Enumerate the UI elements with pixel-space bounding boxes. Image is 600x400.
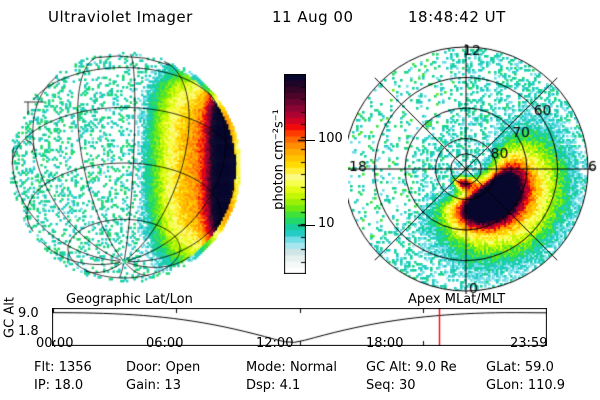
status-glat-value: 59.0 <box>525 360 554 375</box>
orbit-y-tick-high: 9.0 <box>18 306 39 321</box>
status-gain-label: Gain: <box>126 378 160 393</box>
status-door: Door: Open <box>126 360 200 375</box>
status-door-value: Open <box>166 360 201 375</box>
geographic-globe-image[interactable] <box>6 44 246 292</box>
status-dsp-value: 4.1 <box>280 378 301 393</box>
status-gcalt: GC Alt: 9.0 Re <box>366 360 457 375</box>
right-panel-caption: Apex MLat/MLT <box>408 292 505 307</box>
page-title: Ultraviolet Imager <box>48 8 193 26</box>
status-mode-label: Mode: <box>246 360 286 375</box>
orbit-track-plot[interactable] <box>52 308 547 346</box>
status-ip-label: IP: <box>34 378 50 393</box>
time-tick-3: 18:00 <box>366 336 403 351</box>
status-flight-label: Flt: <box>34 360 55 375</box>
apex-polar-panel[interactable] <box>348 44 598 294</box>
time-tick-0: 00:00 <box>36 336 73 351</box>
colorbar-major-tick-100 <box>306 140 315 141</box>
status-seq-label: Seq: <box>366 378 395 393</box>
observation-time: 18:48:42 UT <box>408 8 506 26</box>
status-seq: Seq: 30 <box>366 378 416 393</box>
time-tick-4: 23:59 <box>510 336 547 351</box>
left-panel-caption: Geographic Lat/Lon <box>66 292 193 307</box>
colorbar-gradient <box>284 74 306 274</box>
apex-polar-image[interactable] <box>348 44 598 294</box>
colorbar-tick-100: 100 <box>318 131 343 146</box>
status-dsp-label: Dsp: <box>246 378 275 393</box>
status-ip-value: 18.0 <box>54 378 83 393</box>
telemetry-status-bar: Flt: 1356 Door: Open Mode: Normal GC Alt… <box>0 360 600 400</box>
status-gain: Gain: 13 <box>126 378 181 393</box>
status-gcalt-label: GC Alt: <box>366 360 411 375</box>
status-glon: GLon: 110.9 <box>486 378 565 393</box>
status-mode-value: Normal <box>290 360 337 375</box>
status-glon-label: GLon: <box>486 378 524 393</box>
orbit-altitude-section: Geographic Lat/Lon Apex MLat/MLT GC Alt … <box>0 292 600 356</box>
colorbar-tick-10: 10 <box>318 216 335 231</box>
status-flight: Flt: 1356 <box>34 360 92 375</box>
time-tick-1: 06:00 <box>146 336 183 351</box>
status-ip: IP: 18.0 <box>34 378 83 393</box>
header-bar: Ultraviolet Imager 11 Aug 00 18:48:42 UT <box>0 6 600 30</box>
status-door-label: Door: <box>126 360 161 375</box>
time-tick-2: 12:00 <box>256 336 293 351</box>
status-flight-value: 1356 <box>59 360 92 375</box>
colorbar-major-tick-10 <box>306 225 315 226</box>
status-seq-value: 30 <box>399 378 416 393</box>
status-glat: GLat: 59.0 <box>486 360 554 375</box>
observation-date: 11 Aug 00 <box>272 8 354 26</box>
colorbar-panel: photon cm⁻²s⁻¹ 100 10 <box>252 60 348 292</box>
status-glon-value: 110.9 <box>528 378 565 393</box>
status-mode: Mode: Normal <box>246 360 337 375</box>
status-glat-label: GLat: <box>486 360 521 375</box>
status-gain-value: 13 <box>164 378 181 393</box>
geographic-globe-panel[interactable] <box>6 44 246 292</box>
orbit-y-axis-label: GC Alt <box>3 294 18 342</box>
status-gcalt-value: 9.0 Re <box>415 360 456 375</box>
status-dsp: Dsp: 4.1 <box>246 378 300 393</box>
